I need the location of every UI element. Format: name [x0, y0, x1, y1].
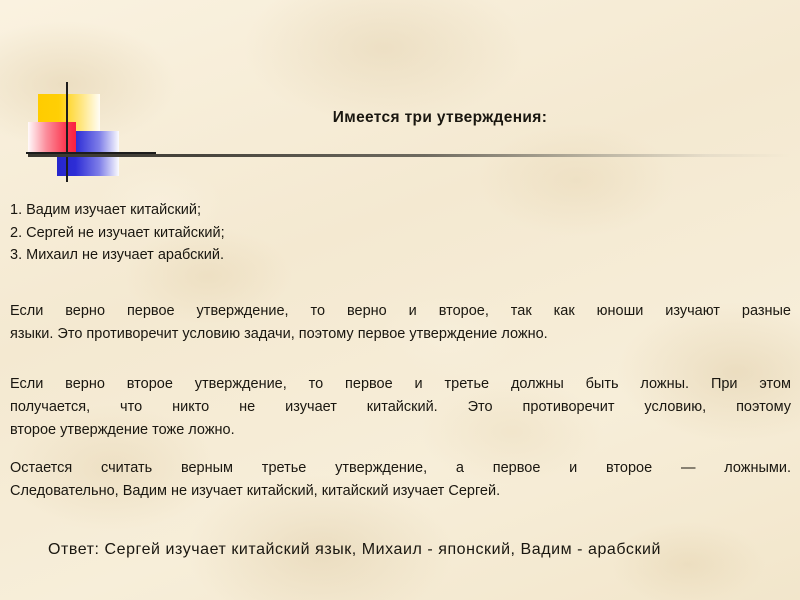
title-divider: [28, 154, 790, 157]
decorative-logo-mark: [26, 82, 156, 182]
paragraph-line: второе утверждение тоже ложно.: [10, 419, 791, 442]
paragraph-line: Если верно первое утверждение, то верно …: [10, 300, 791, 323]
answer-text: Ответ: Сергей изучает китайский язык, Ми…: [48, 538, 800, 562]
reasoning-paragraph-1: Если верно первое утверждение, то верно …: [10, 300, 791, 346]
vertical-rule-icon: [66, 82, 68, 182]
paragraph-line: получается, что никто не изучает китайск…: [10, 396, 791, 419]
reasoning-paragraph-2: Если верно второе утверждение, то первое…: [10, 373, 791, 442]
paragraph-line: языки. Это противоречит условию задачи, …: [10, 323, 791, 346]
paragraph-line: Следовательно, Вадим не изучает китайски…: [10, 480, 791, 503]
slide-title: Имеется три утверждения:: [180, 109, 700, 127]
paragraph-line: Остается считать верным третье утвержден…: [10, 457, 791, 480]
slide-canvas: Имеется три утверждения: 1. Вадим изучае…: [0, 0, 800, 600]
list-item: 1. Вадим изучает китайский;: [10, 199, 440, 222]
list-item: 3. Михаил не изучает арабский.: [10, 244, 440, 267]
red-square-icon: [28, 122, 76, 156]
reasoning-paragraph-3: Остается считать верным третье утвержден…: [10, 457, 791, 503]
paragraph-line: Если верно второе утверждение, то первое…: [10, 373, 791, 396]
statement-list: 1. Вадим изучает китайский; 2. Сергей не…: [10, 199, 440, 267]
list-item: 2. Сергей не изучает китайский;: [10, 222, 440, 245]
